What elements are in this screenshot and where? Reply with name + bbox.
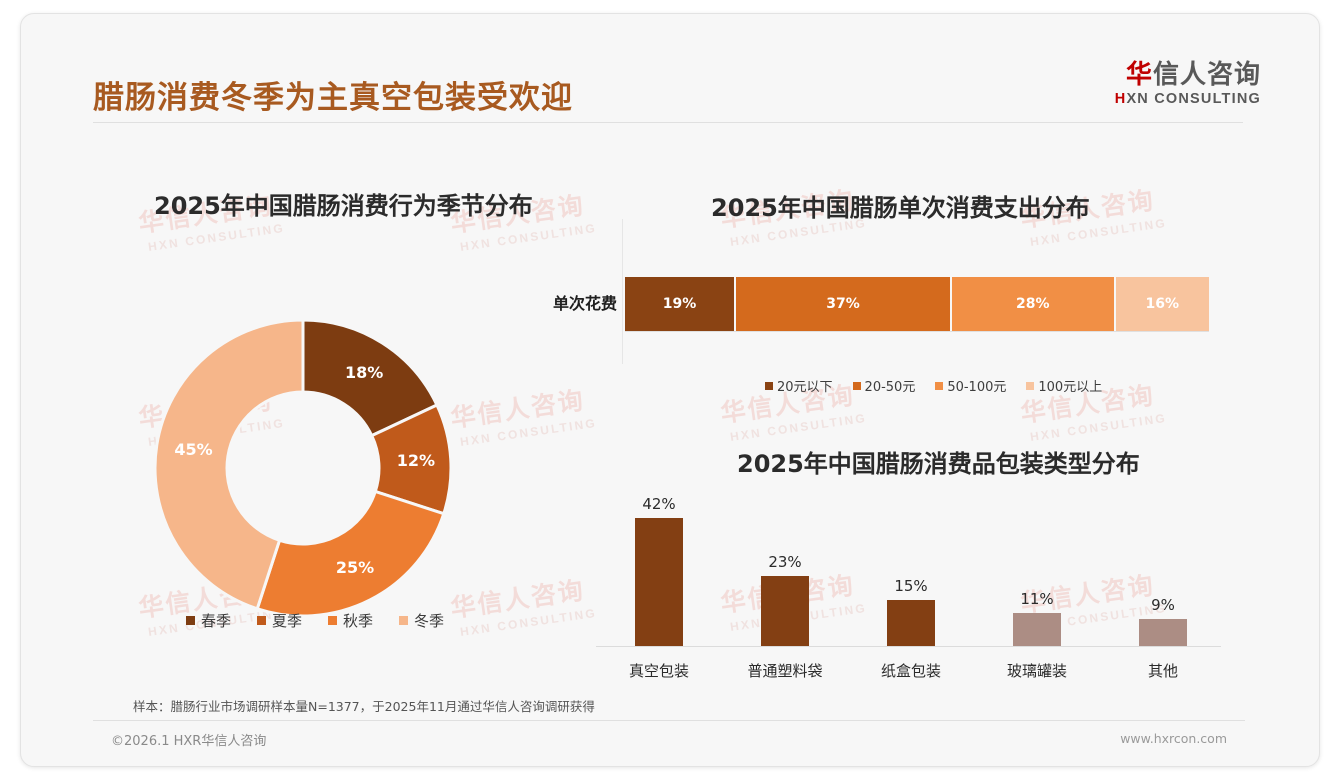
bar-column[interactable]: 11% xyxy=(974,500,1100,646)
donut-slice-value: 45% xyxy=(174,440,212,459)
stacked-bar-segment[interactable]: 16% xyxy=(1116,277,1209,331)
watermark-english: HXN CONSULTING xyxy=(729,411,868,444)
donut-chart-title: 2025年中国腊肠消费行为季节分布 xyxy=(154,186,533,221)
legend-label: 100元以上 xyxy=(1038,376,1102,395)
package-bars-title: 2025年中国腊肠消费品包装类型分布 xyxy=(737,444,1140,479)
bar-category-label: 真空包装 xyxy=(596,660,722,681)
donut-legend-item[interactable]: 冬季 xyxy=(399,610,444,631)
stacked-bar-segment[interactable]: 28% xyxy=(952,277,1116,331)
bar-column[interactable]: 23% xyxy=(722,500,848,646)
bar-value-label: 42% xyxy=(642,495,675,513)
stacked-bar-legend: 20元以下20-50元50-100元100元以上 xyxy=(765,376,1122,395)
bar-column[interactable]: 9% xyxy=(1100,500,1226,646)
watermark-english: HXN CONSULTING xyxy=(1029,411,1168,444)
legend-swatch-icon xyxy=(257,616,266,625)
watermark-english: HXN CONSULTING xyxy=(147,221,286,254)
legend-label: 20-50元 xyxy=(865,376,916,395)
donut-legend: 春季夏季秋季冬季 xyxy=(186,610,470,631)
sample-note: 样本：腊肠行业市场调研样本量N=1377，于2025年11月通过华信人咨询调研获… xyxy=(133,696,595,715)
stacked-legend-item[interactable]: 20-50元 xyxy=(853,376,916,395)
bar-rect[interactable] xyxy=(1139,619,1187,646)
logo-cn-rest: 信人咨询 xyxy=(1153,60,1261,90)
donut-slice-value: 25% xyxy=(336,558,374,577)
donut-legend-item[interactable]: 夏季 xyxy=(257,610,302,631)
header-divider xyxy=(93,122,1243,123)
stacked-bar-row-label: 单次花费 xyxy=(521,290,617,314)
legend-label: 20元以下 xyxy=(777,376,833,395)
legend-swatch-icon xyxy=(1026,382,1034,390)
bar-rect[interactable] xyxy=(887,600,935,646)
bar-value-label: 9% xyxy=(1151,596,1175,614)
copyright-text: ©2026.1 HXR华信人咨询 xyxy=(111,730,266,749)
bar-category-label: 普通塑料袋 xyxy=(722,660,848,681)
slide-canvas: 华信人咨询HXN CONSULTING华信人咨询HXN CONSULTING华信… xyxy=(20,13,1320,767)
watermark-english: HXN CONSULTING xyxy=(459,606,598,639)
legend-swatch-icon xyxy=(765,382,773,390)
donut-svg xyxy=(133,310,473,630)
logo-english: HXN CONSULTING xyxy=(1115,91,1261,107)
stacked-legend-item[interactable]: 20元以下 xyxy=(765,376,833,395)
season-donut-chart: 18%12%25%45% xyxy=(133,310,473,630)
bar-value-label: 15% xyxy=(894,577,927,595)
legend-swatch-icon xyxy=(853,382,861,390)
slide-header: 腊肠消费冬季为主真空包装受欢迎 华信人咨询 HXN CONSULTING xyxy=(21,14,1319,121)
donut-legend-item[interactable]: 秋季 xyxy=(328,610,373,631)
legend-swatch-icon xyxy=(935,382,943,390)
bar-rect[interactable] xyxy=(635,518,683,646)
logo-cn-accent: 华 xyxy=(1126,60,1153,90)
legend-label: 春季 xyxy=(201,610,231,631)
bar-rect[interactable] xyxy=(1013,613,1061,646)
bar-category-label: 其他 xyxy=(1100,660,1226,681)
bar-chart-axis xyxy=(596,646,1221,647)
legend-label: 冬季 xyxy=(414,610,444,631)
logo-en-rest: XN CONSULTING xyxy=(1126,91,1261,107)
donut-legend-item[interactable]: 春季 xyxy=(186,610,231,631)
company-logo: 华信人咨询 HXN CONSULTING xyxy=(1115,62,1261,107)
legend-swatch-icon xyxy=(186,616,195,625)
legend-label: 秋季 xyxy=(343,610,373,631)
bar-value-label: 23% xyxy=(768,553,801,571)
bar-rect[interactable] xyxy=(761,576,809,646)
website-link[interactable]: www.hxrcon.com xyxy=(1120,731,1227,746)
footer-divider xyxy=(93,720,1245,721)
stacked-legend-item[interactable]: 100元以上 xyxy=(1026,376,1102,395)
spend-stacked-bar-chart: 单次花费 19%37%28%16% xyxy=(521,277,1221,333)
watermark-english: HXN CONSULTING xyxy=(459,221,598,254)
bar-category-label: 纸盒包装 xyxy=(848,660,974,681)
donut-slice[interactable] xyxy=(257,491,443,616)
stacked-legend-item[interactable]: 50-100元 xyxy=(935,376,1006,395)
bar-column[interactable]: 42% xyxy=(596,500,722,646)
legend-label: 夏季 xyxy=(272,610,302,631)
donut-slice-value: 12% xyxy=(397,451,435,470)
legend-label: 50-100元 xyxy=(947,376,1006,395)
bar-column[interactable]: 15% xyxy=(848,500,974,646)
bar-category-label: 玻璃罐装 xyxy=(974,660,1100,681)
logo-chinese: 华信人咨询 xyxy=(1115,62,1261,89)
stacked-bar-axis xyxy=(625,331,1209,332)
stacked-bar-track: 19%37%28%16% xyxy=(625,277,1209,331)
bar-value-label: 11% xyxy=(1020,590,1053,608)
logo-en-accent: H xyxy=(1115,91,1127,107)
page-title: 腊肠消费冬季为主真空包装受欢迎 xyxy=(93,72,573,117)
watermark-english: HXN CONSULTING xyxy=(459,416,598,449)
package-bar-chart: 42%23%15%11%9% 真空包装普通塑料袋纸盒包装玻璃罐装其他 xyxy=(596,500,1221,695)
stacked-bar-segment[interactable]: 37% xyxy=(736,277,952,331)
stacked-bar-title: 2025年中国腊肠单次消费支出分布 xyxy=(711,188,1090,223)
legend-swatch-icon xyxy=(328,616,337,625)
stacked-bar-segment[interactable]: 19% xyxy=(625,277,736,331)
legend-swatch-icon xyxy=(399,616,408,625)
donut-slice-value: 18% xyxy=(345,363,383,382)
